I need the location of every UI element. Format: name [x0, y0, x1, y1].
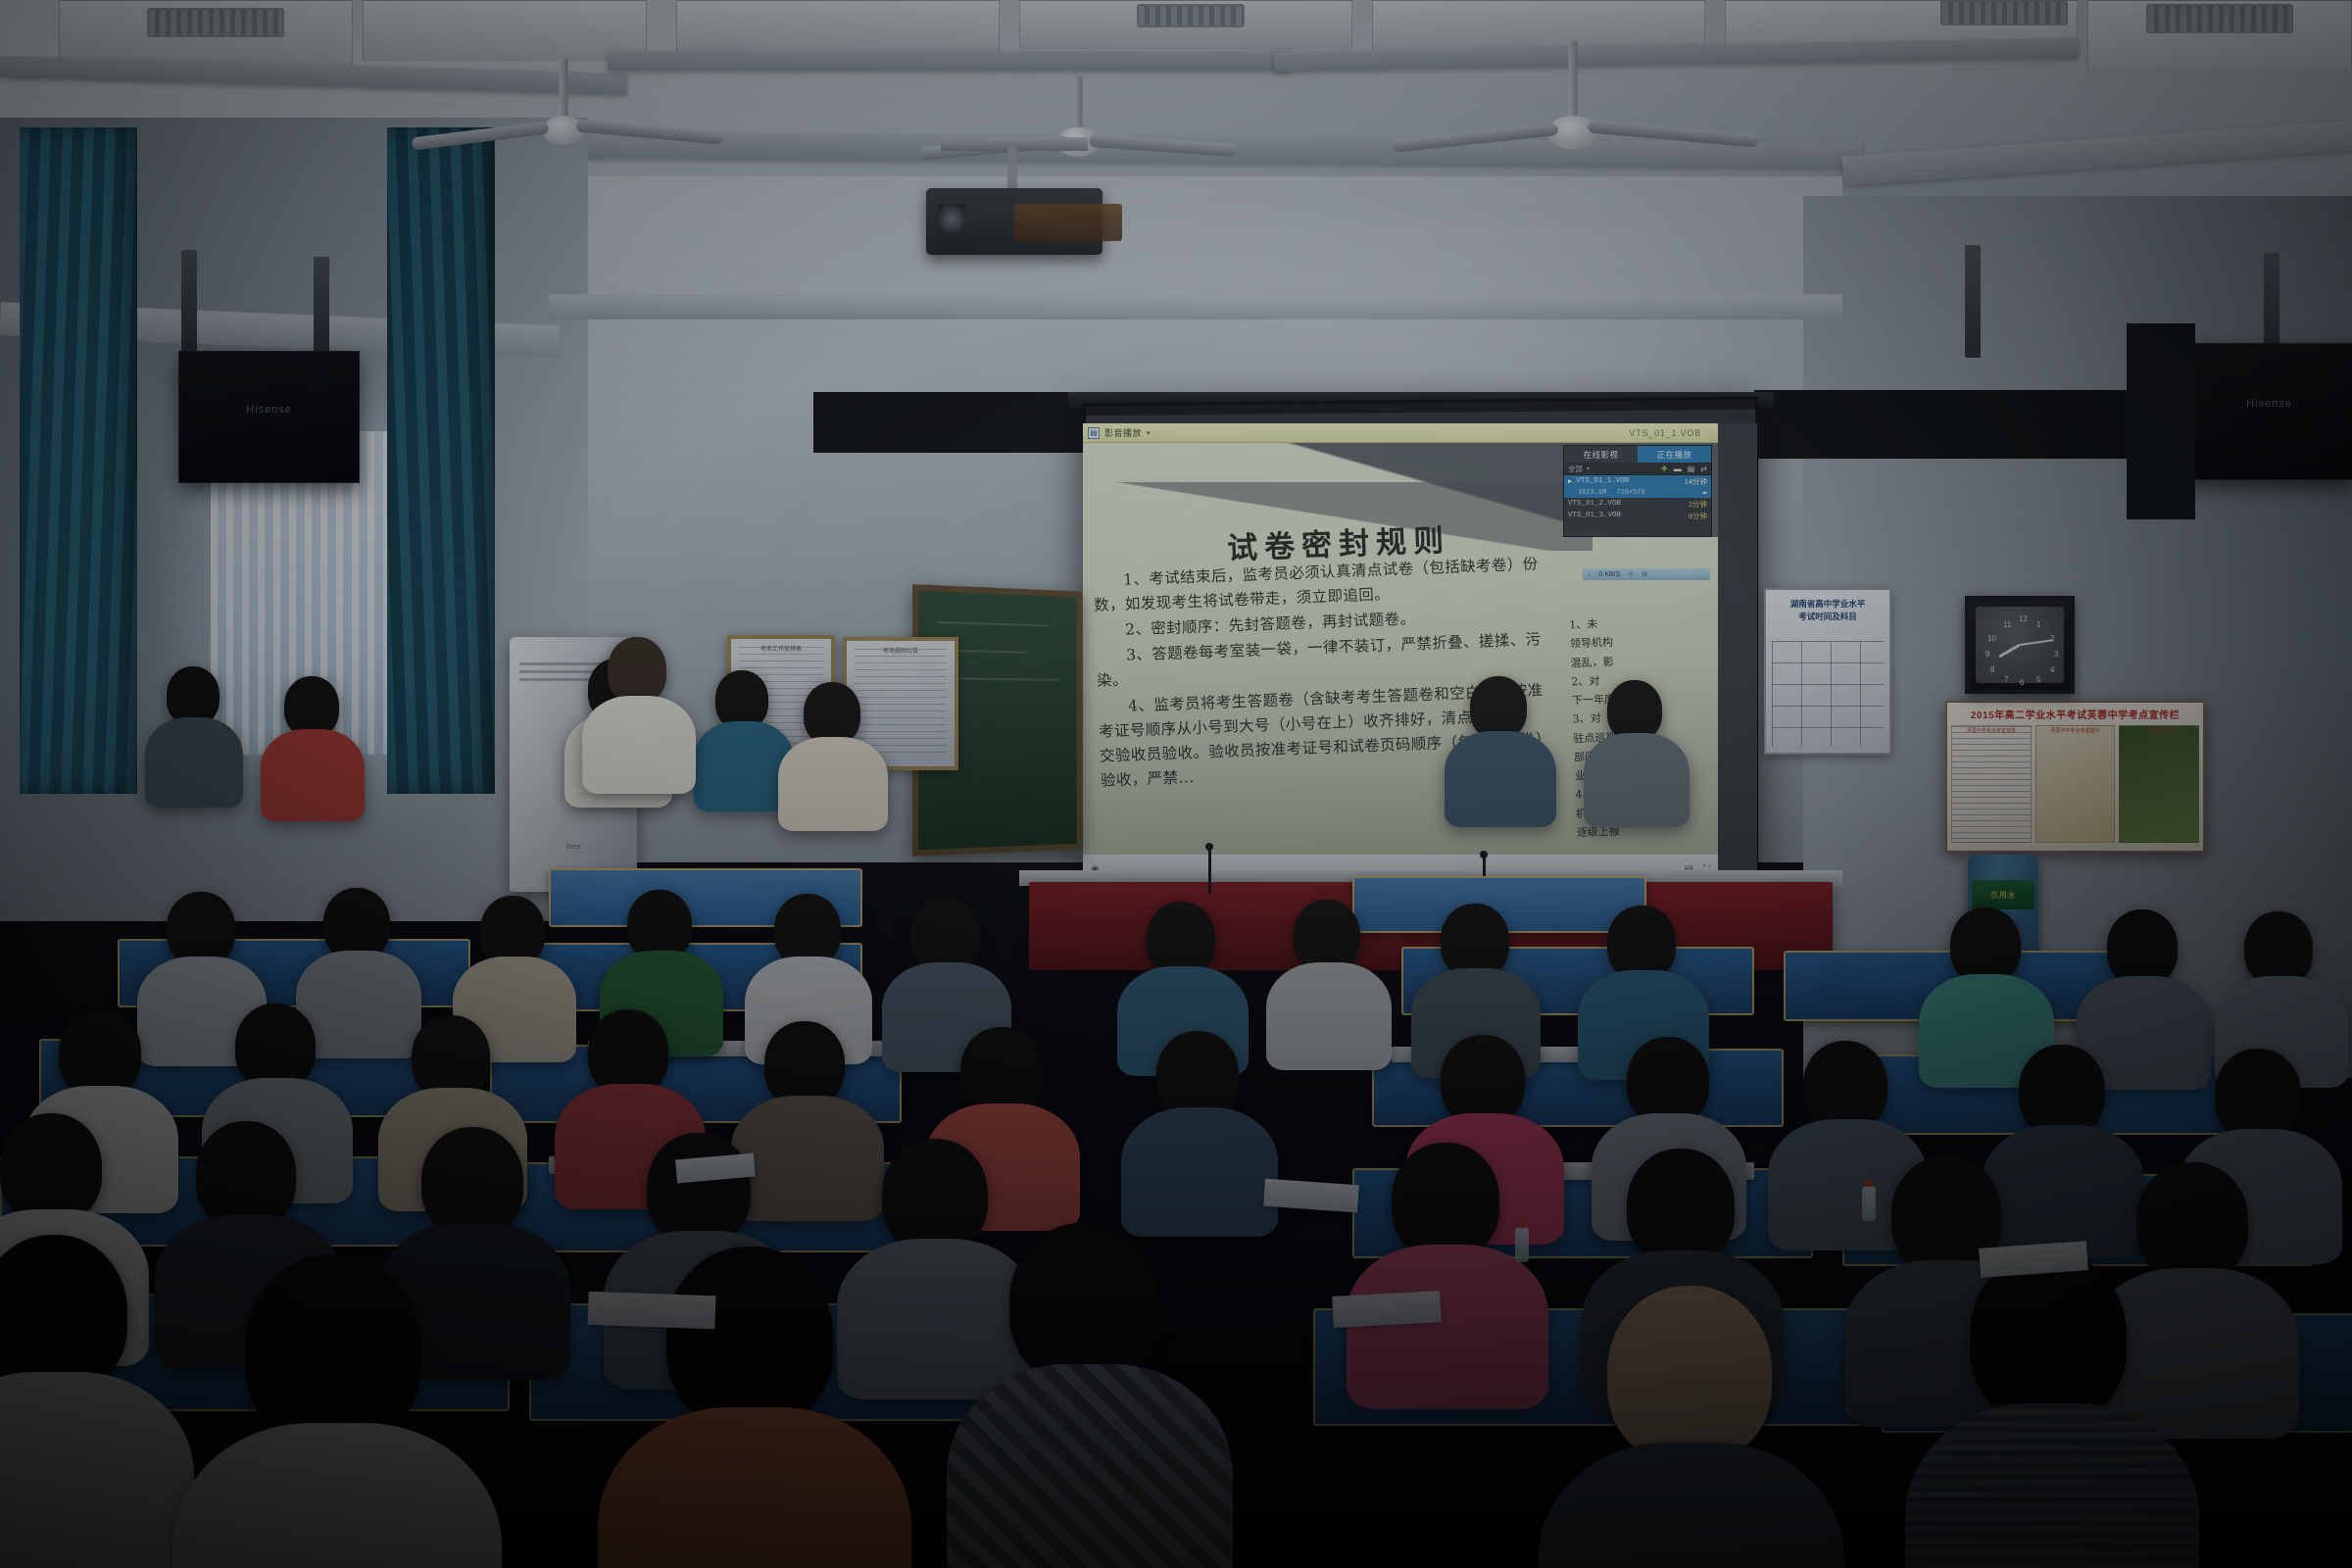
- exam-schedule-poster: 湖南省高中学业水平 考试时间及科目: [1764, 588, 1891, 755]
- clock-numeral: 10: [1987, 634, 1996, 643]
- app-title-label: 影音播放: [1104, 426, 1142, 439]
- wall-trim: [549, 294, 1842, 319]
- settings-icon[interactable]: ⊹: [1628, 570, 1634, 578]
- water-bottle-small: [1862, 1186, 1876, 1221]
- playlist-filter-label[interactable]: 全部: [1568, 464, 1583, 474]
- play-icon: ▶: [1568, 477, 1572, 486]
- wall-clock: 12 1 2 3 4 5 6 7 8 9 10 11: [1965, 596, 2075, 694]
- handout-paper: [587, 1292, 715, 1330]
- banner-panel-table: 芙蓉中学考点考室安排: [1951, 725, 2032, 843]
- schedule-poster-title-line1: 湖南省高中学业水平: [1771, 598, 1885, 611]
- playlist-item-details: 1023.6M 720×576 ▰: [1564, 487, 1711, 498]
- file-size-label: 1023.6M: [1578, 489, 1606, 497]
- banner-headline: 2015年高二学业水平考试芙蓉中学考点宣传栏: [1951, 707, 2199, 721]
- download-icon[interactable]: ↓: [1588, 571, 1592, 578]
- playlist-item-2[interactable]: VTS_01_2.VOB 2分钟: [1564, 498, 1711, 510]
- projected-app-titlebar: ▤ 影音播放 ▾ VTS_01_1.VOB: [1083, 423, 1718, 443]
- projector-lens-icon: [938, 204, 965, 233]
- clock-numeral: 6: [2020, 678, 2024, 687]
- clock-face: 12 1 2 3 4 5 6 7 8 9 10 11: [1976, 607, 2064, 683]
- resolution-label: 720×576: [1616, 489, 1644, 497]
- speaker-bracket: [314, 257, 329, 360]
- audience-seating: [0, 862, 2352, 1568]
- handout-paper: [1332, 1291, 1442, 1328]
- speaker-left: Hisense: [178, 351, 360, 483]
- shuffle-icon[interactable]: ⇄: [1700, 465, 1707, 473]
- playlist-item-name: VTS_01_2.VOB: [1568, 500, 1621, 508]
- clock-minute-hand: [2020, 639, 2053, 646]
- projector-mount-rod: [1007, 147, 1017, 194]
- classroom-scene: Hisense Hisense ▤ 影音播放 ▾ VTS_01_1.VOB 试卷…: [0, 0, 2352, 1568]
- minus-icon[interactable]: ▬: [1674, 465, 1682, 473]
- playlist-item-name: VTS_01_3.VOB: [1568, 512, 1621, 519]
- playlist-toolbar: 全部 ▾ ✚ ▬ ▤ ⇄: [1564, 463, 1711, 475]
- curtain-left: [20, 127, 137, 794]
- speaker-brand-label: Hisense: [179, 404, 359, 416]
- ceiling-vent: [1940, 0, 2068, 25]
- banner-panel-caption: 考点环境照: [2120, 727, 2198, 734]
- ceiling-fan-right: [1450, 41, 1695, 178]
- speed-label: 0 KB/S: [1599, 571, 1621, 578]
- current-file-label: VTS_01_1.VOB: [1629, 428, 1713, 438]
- folder-icon[interactable]: ▰: [1702, 488, 1707, 498]
- playlist-item-1[interactable]: ▶ VTS_01_1.VOB 14分钟: [1564, 475, 1711, 487]
- clock-numeral: 11: [2003, 620, 2011, 629]
- banner-panel-photo: 考点环境照: [2119, 725, 2199, 843]
- ceiling-beam: [608, 51, 1294, 71]
- clock-numeral: 4: [2050, 665, 2054, 674]
- water-bottle-small: [1515, 1227, 1529, 1262]
- curtain-right: [387, 127, 495, 794]
- ceiling-vent: [147, 8, 284, 37]
- banner-panel-caption: 芙蓉中学考点考室安排: [1952, 727, 2031, 734]
- tab-now-playing[interactable]: 正在播放: [1638, 446, 1711, 463]
- chevron-down-icon[interactable]: ▾: [1587, 465, 1590, 472]
- playlist-item-duration: 8分钟: [1689, 511, 1707, 521]
- soffit-corner: [2127, 323, 2195, 519]
- clock-numeral: 5: [2036, 675, 2040, 684]
- playlist-item-3[interactable]: VTS_01_3.VOB 8分钟: [1564, 510, 1711, 521]
- air-conditioner-brand: Gree: [510, 844, 637, 851]
- tab-online-video[interactable]: 在线影视: [1564, 446, 1638, 463]
- clock-numeral: 12: [2019, 614, 2028, 623]
- screen-margin-right: [1718, 423, 1757, 884]
- schedule-poster-table: [1772, 641, 1884, 747]
- trash-icon[interactable]: ▤: [1688, 465, 1695, 473]
- banner-panel-caption: 芙蓉中学考点考室图示: [2036, 727, 2115, 734]
- speaker-bracket: [1965, 245, 1981, 358]
- clock-numeral: 7: [2004, 675, 2008, 684]
- clock-numeral: 3: [2054, 650, 2058, 659]
- ceiling-fan-left: [451, 59, 676, 186]
- playlist-item-name: VTS_01_1.VOB: [1576, 477, 1629, 485]
- playlist-item-duration: 14分钟: [1685, 476, 1707, 487]
- clock-numeral: 8: [1990, 665, 1994, 674]
- player-mini-toolbar[interactable]: ↓ 0 KB/S ⊹ ⊝: [1583, 568, 1710, 580]
- ceiling-panel: [676, 0, 1000, 55]
- banner-panel-map: 芙蓉中学考点考室图示: [2035, 725, 2116, 843]
- plus-icon[interactable]: ✚: [1661, 465, 1668, 473]
- exam-info-banner: 2015年高二学业水平考试芙蓉中学考点宣传栏 芙蓉中学考点考室安排 芙蓉中学考点…: [1945, 701, 2205, 853]
- clock-hour-hand: [1998, 644, 2020, 659]
- speaker-brand-label: Hisense: [2184, 398, 2352, 410]
- schedule-poster-title-line2: 考试时间及科目: [1771, 611, 1885, 623]
- playlist-item-duration: 2分钟: [1689, 499, 1707, 510]
- ceiling-panel: [363, 0, 647, 61]
- clock-numeral: 1: [2036, 620, 2040, 629]
- clock-numeral: 9: [1985, 650, 1989, 659]
- ceiling-vent: [1137, 4, 1245, 27]
- document-icon: ▤: [1088, 427, 1100, 439]
- player-tab-bar: 在线影视 正在播放: [1564, 446, 1711, 463]
- soffit-band-right: [1754, 390, 2176, 459]
- close-icon[interactable]: ⊝: [1641, 570, 1647, 578]
- ceiling-vent: [2146, 4, 2293, 33]
- media-player-panel[interactable]: 在线影视 正在播放 全部 ▾ ✚ ▬ ▤ ⇄ ▶ VTS_01_1.VOB 14…: [1563, 445, 1712, 537]
- speaker-right: Hisense: [2183, 343, 2352, 480]
- speaker-bracket: [181, 250, 197, 358]
- projector-lamp-housing: [1014, 204, 1122, 241]
- chevron-down-icon[interactable]: ▾: [1147, 429, 1151, 437]
